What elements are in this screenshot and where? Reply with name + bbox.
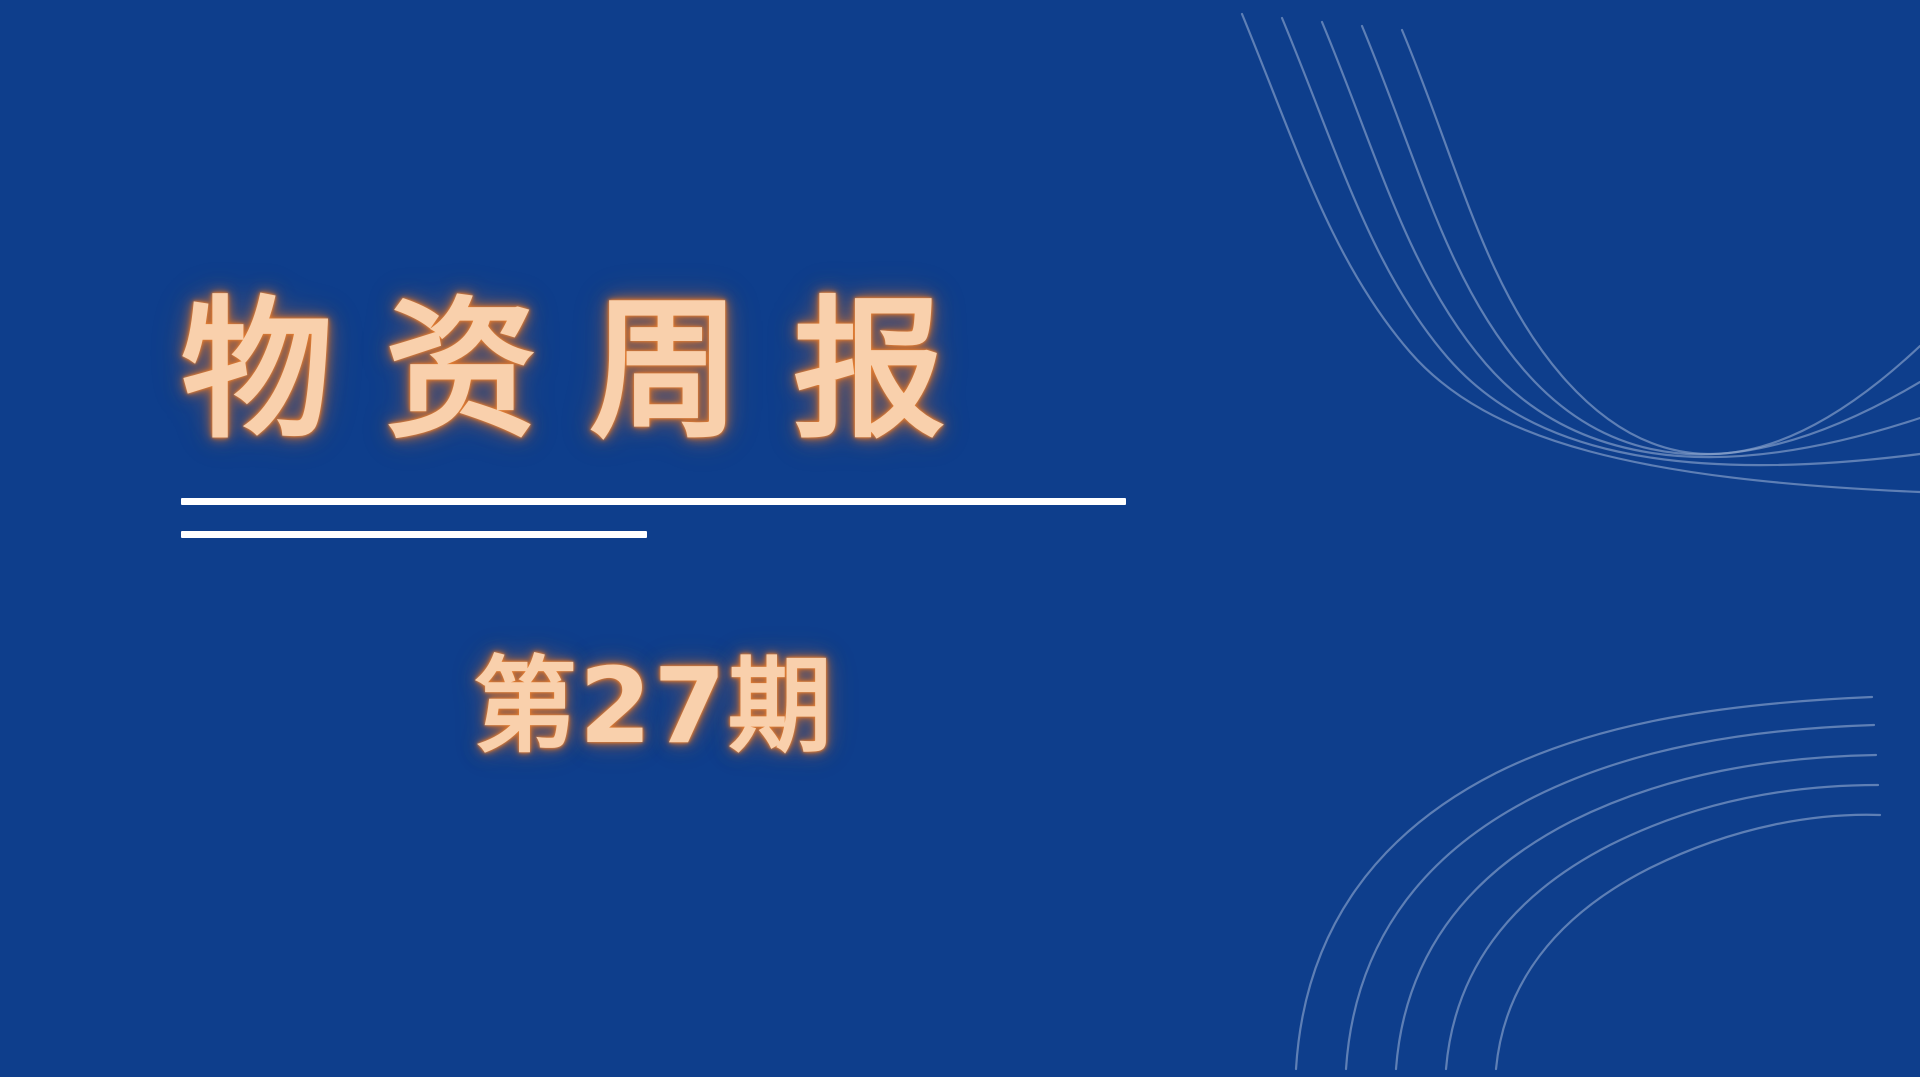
wave-line-4 (1362, 26, 1920, 454)
bottom-right-arc-lines (1260, 677, 1920, 1077)
title-underline-long (181, 498, 1126, 505)
top-right-wave-lines (1220, 0, 1920, 560)
page-title: 物资周报 (181, 295, 1381, 447)
issue-subtitle: 第27期 (473, 648, 834, 764)
arc-line-2 (1346, 725, 1874, 1069)
arc-line-4 (1446, 785, 1878, 1069)
arc-line-3 (1396, 755, 1876, 1069)
arc-line-1 (1296, 697, 1872, 1069)
wave-line-5 (1402, 30, 1920, 454)
subtitle-block: 第27期 (181, 648, 1126, 764)
wave-line-3 (1322, 22, 1920, 457)
title-underline-short (181, 531, 647, 538)
slide-canvas: 物资周报 第27期 (0, 0, 1920, 1077)
title-underline-group (181, 498, 1126, 538)
arc-line-5 (1496, 815, 1880, 1069)
title-block: 物资周报 (181, 295, 1381, 447)
